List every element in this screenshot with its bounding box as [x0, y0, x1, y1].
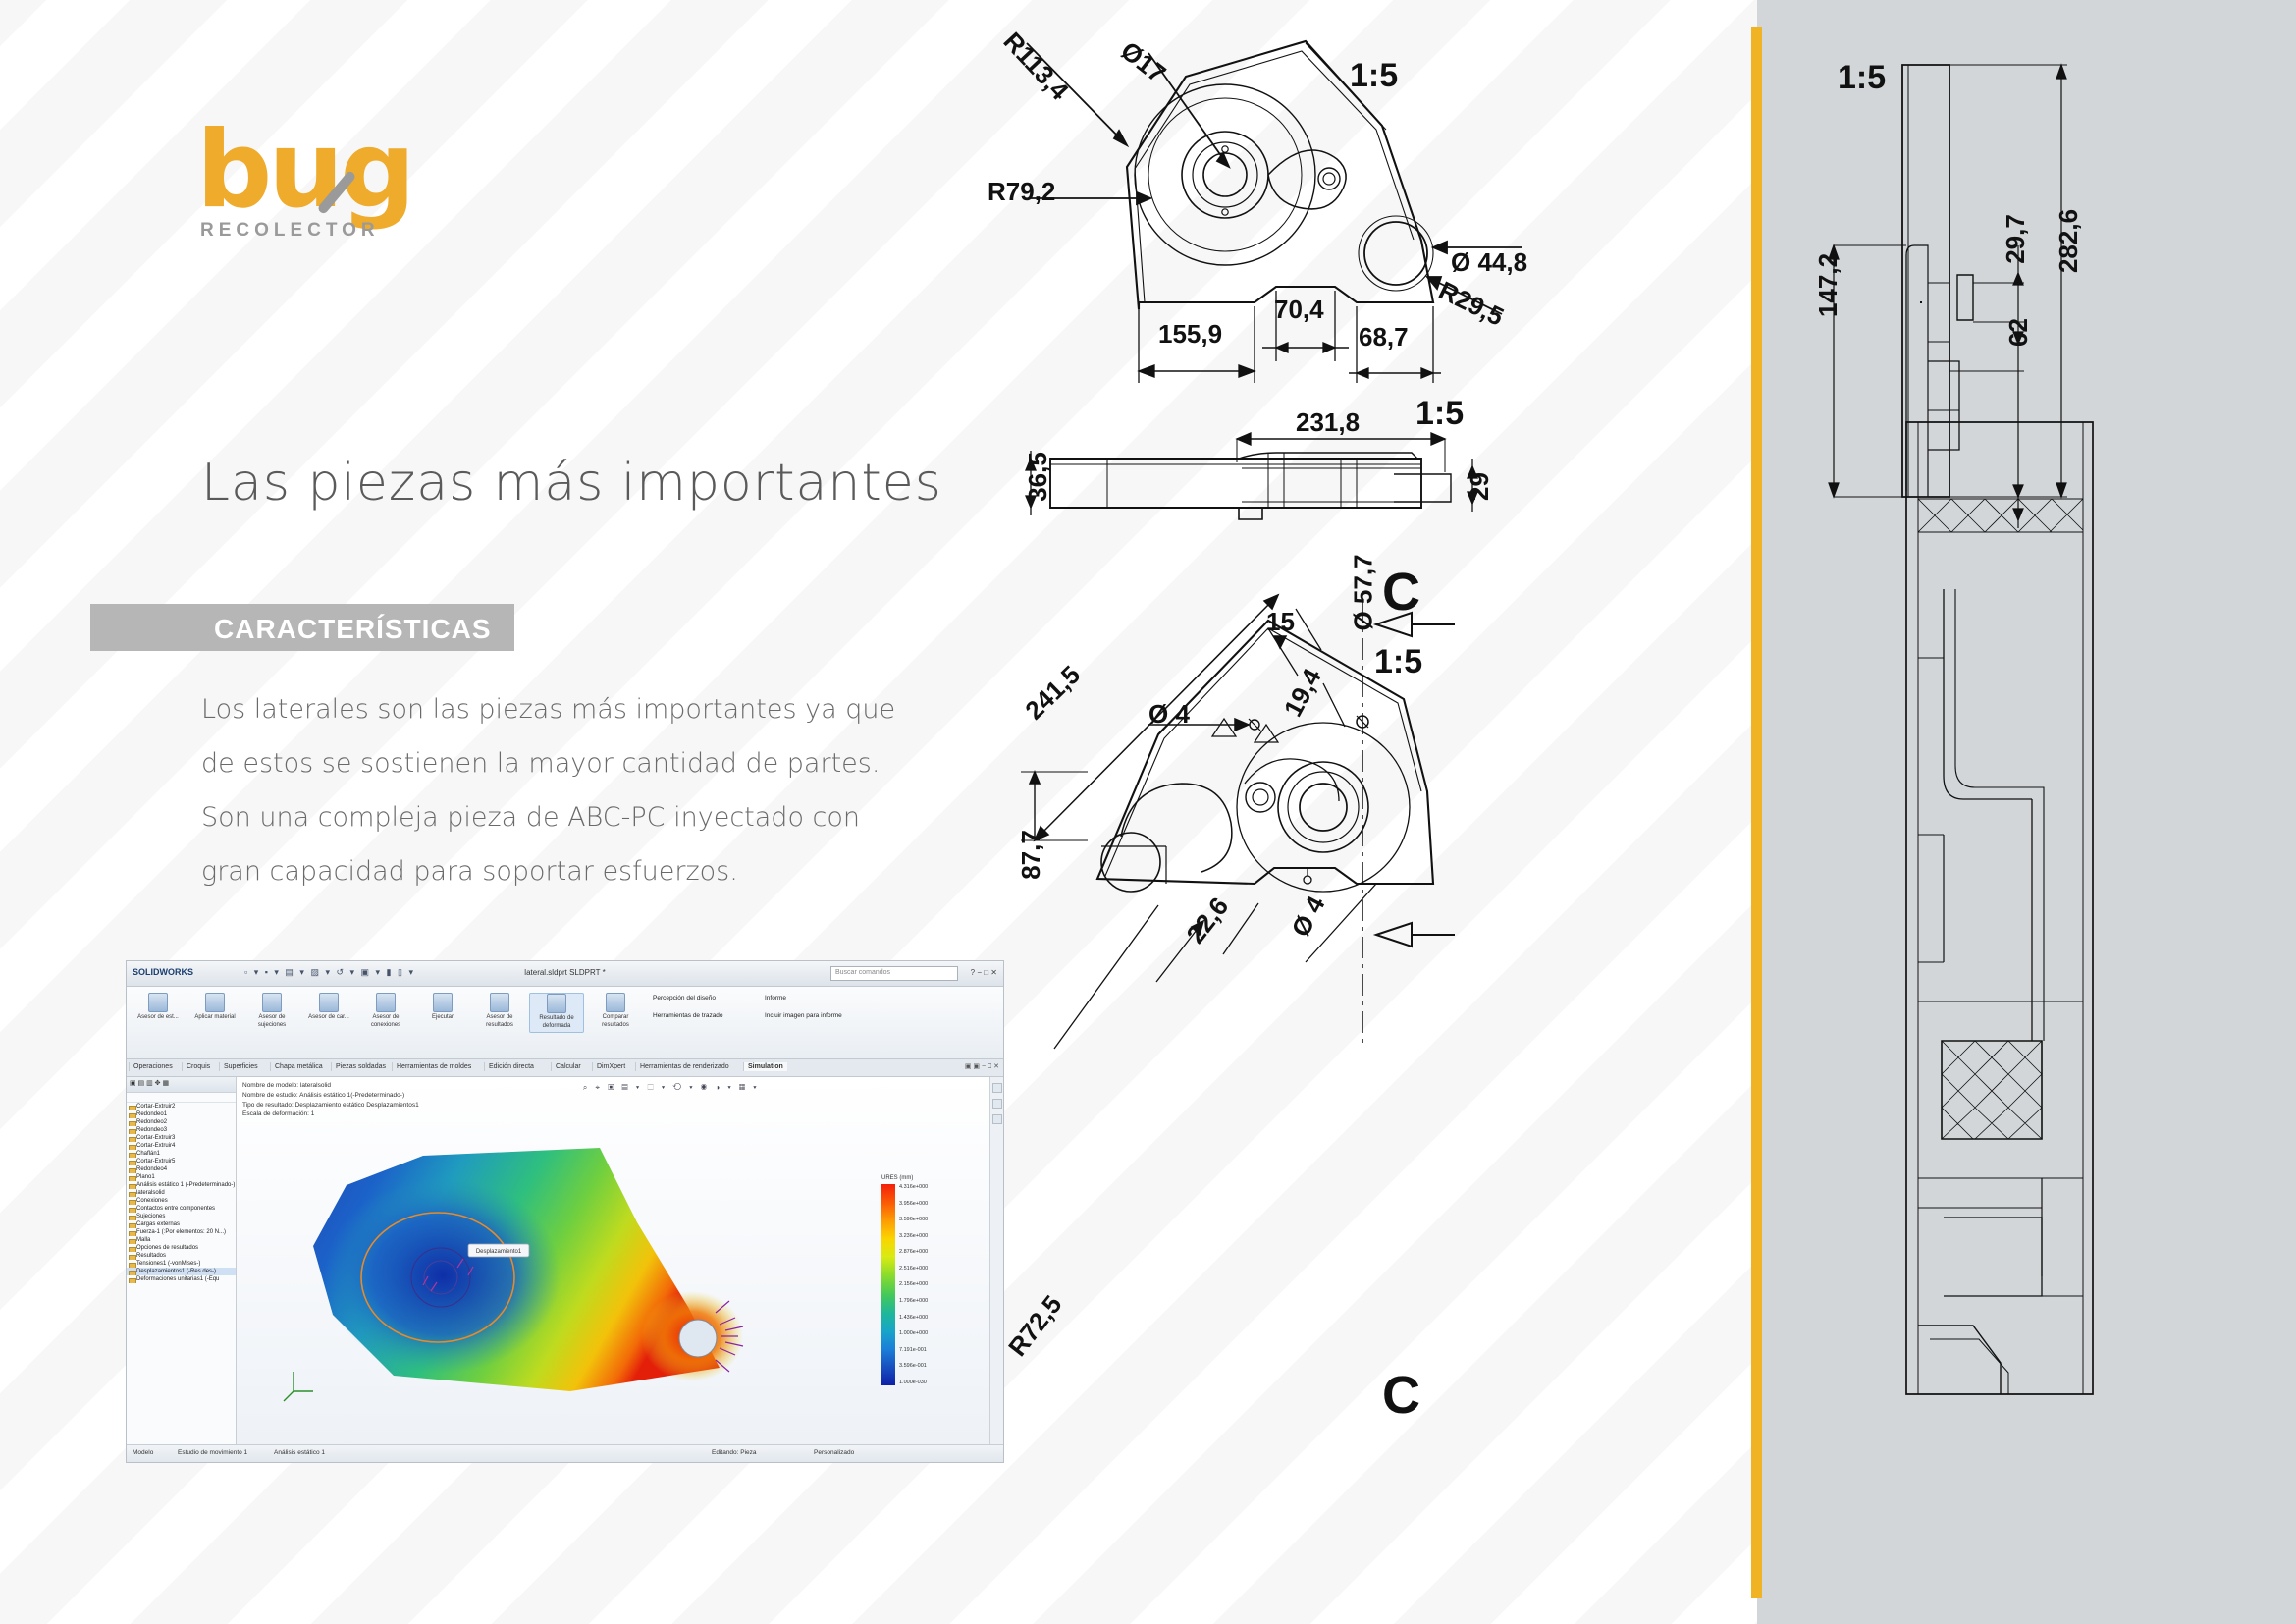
legend-value-4: 2.876e+000: [899, 1249, 928, 1255]
dim-29: 29: [1465, 472, 1495, 501]
legend-value-12: 1.000e-030: [899, 1380, 928, 1385]
apply-material-icon: [205, 993, 225, 1012]
logo-subtitle: RECOLECTOR: [200, 220, 380, 242]
ribbon-button-8[interactable]: Comparar resultados: [588, 993, 643, 1029]
ribbon-button-4[interactable]: Asesor de conexiones: [358, 993, 413, 1029]
window-controls[interactable]: ? − □ ✕: [971, 968, 997, 977]
meta-line-2: Tipo de resultado: Desplazamiento estáti…: [242, 1101, 419, 1110]
tree-item-15[interactable]: Cargas externas: [127, 1220, 236, 1228]
tab-herramientas-renderizado[interactable]: Herramientas de renderizado: [635, 1062, 733, 1071]
right-gray-panel: 282,6 29,7 147,2 62 1:5: [1757, 0, 2296, 1624]
fea-color-legend: URES (mm) 4.316e+000 3.956e+000 3.596e+0…: [881, 1175, 966, 1385]
tab-calcular[interactable]: Calcular: [551, 1062, 585, 1071]
ribbon-text-0[interactable]: Percepción del diseño: [653, 995, 716, 1001]
legend-value-3: 3.236e+000: [899, 1233, 928, 1239]
dim-d4-upper: Ø 4: [1148, 699, 1190, 730]
legend-value-8: 1.436e+000: [899, 1315, 928, 1321]
result-metadata: Nombre de modelo: lateralsolid Nombre de…: [242, 1081, 419, 1119]
ribbon-button-0[interactable]: Asesor de est...: [131, 993, 186, 1022]
legend-color-bar: [881, 1184, 895, 1385]
tab-chapa-metalica[interactable]: Chapa metálica: [270, 1062, 327, 1071]
tree-filter-row[interactable]: [127, 1093, 236, 1103]
legend-value-10: 7.191e-001: [899, 1347, 928, 1353]
dim-r72-5: R72,5: [1002, 1290, 1068, 1363]
dim-36-5: 36,5: [1023, 452, 1053, 502]
dim-87-7: 87,7: [1016, 830, 1046, 880]
deformed-result-icon: [547, 994, 566, 1013]
tree-item-6[interactable]: Chaflán1: [127, 1150, 236, 1158]
compare-results-icon: [606, 993, 625, 1012]
scale-label-view-2: 1:5: [1415, 395, 1464, 433]
meta-line-3: Escala de deformación: 1: [242, 1110, 419, 1119]
tree-item-14[interactable]: Sujeciones: [127, 1213, 236, 1220]
meta-line-0: Nombre de modelo: lateralsolid: [242, 1081, 419, 1091]
ribbon-button-3[interactable]: Asesor de car...: [301, 993, 356, 1022]
dim-d57-7: Ø 57,7: [1349, 554, 1379, 630]
panel-window-controls[interactable]: ▣ ▣ − ⎕ ✕: [965, 1062, 999, 1071]
tree-item-16[interactable]: Fuerza-1 (:Por elementos: 20 N...): [127, 1228, 236, 1236]
legend-value-0: 4.316e+000: [899, 1184, 928, 1190]
tab-operaciones[interactable]: Operaciones: [129, 1062, 177, 1071]
section-mark-c-top: C: [1382, 562, 1420, 623]
right-bar-icon-3[interactable]: [992, 1114, 1002, 1124]
legend-value-5: 2.516e+000: [899, 1266, 928, 1272]
dim-68-7: 68,7: [1359, 322, 1409, 352]
tab-croquis[interactable]: Croquis: [182, 1062, 214, 1071]
brand-logo: bug RECOLECTOR: [196, 118, 452, 236]
body-paragraph: Los laterales son las piezas más importa…: [201, 682, 918, 898]
tree-item-2[interactable]: Redondeo2: [127, 1118, 236, 1126]
search-input[interactable]: Buscar comandos: [830, 966, 958, 981]
legend-value-1: 3.956e+000: [899, 1201, 928, 1207]
tree-item-12[interactable]: Conexiones: [127, 1197, 236, 1205]
results-advisor-icon: [490, 993, 509, 1012]
dim-62: 62: [2003, 318, 2034, 347]
feature-tree-panel[interactable]: ▣ ▤ ▥ ✥ ▦ Cortar-Extruir2 Redondeo1 Redo…: [127, 1077, 237, 1444]
status-tab-analisis[interactable]: Análisis estático 1: [274, 1449, 325, 1456]
tree-item-7[interactable]: Cortar-Extruir5: [127, 1158, 236, 1165]
fixtures-advisor-icon: [262, 993, 282, 1012]
tree-item-1[interactable]: Redondeo1: [127, 1110, 236, 1118]
tree-item-9[interactable]: Plano1: [127, 1173, 236, 1181]
scale-label-view-4: 1:5: [1838, 59, 1886, 97]
section-mark-c-bottom: C: [1382, 1365, 1420, 1426]
dim-147-2: 147,2: [1813, 253, 1843, 317]
dim-231-8: 231,8: [1296, 407, 1360, 438]
fea-result-mesh: Desplazamiento1: [276, 1128, 826, 1423]
ribbon-button-2[interactable]: Asesor de sujeciones: [244, 993, 299, 1029]
ribbon-button-5[interactable]: Ejecutar: [415, 993, 470, 1022]
legend-tick-list: 4.316e+000 3.956e+000 3.596e+000 3.236e+…: [899, 1184, 928, 1385]
ribbon-button-6[interactable]: Asesor de resultados: [472, 993, 527, 1029]
feature-tree-toolbar[interactable]: ▣ ▤ ▥ ✥ ▦: [127, 1077, 236, 1093]
quick-access-toolbar[interactable]: ▫ ▾ ▪ ▾ ▤ ▾ ▨ ▾ ↺ ▾ ▣ ▾ ▮ ▯ ▾: [244, 967, 415, 978]
tree-item-3[interactable]: Redondeo3: [127, 1126, 236, 1134]
status-tab-movimiento[interactable]: Estudio de movimiento 1: [178, 1449, 247, 1456]
status-custom: Personalizado: [814, 1449, 854, 1456]
tab-dimxpert[interactable]: DimXpert: [592, 1062, 629, 1071]
characteristics-badge-label: CARACTERÍSTICAS: [214, 614, 492, 645]
tab-edicion-directa[interactable]: Edición directa: [484, 1062, 538, 1071]
tree-item-20[interactable]: Tensiones1 (-vonMises-): [127, 1260, 236, 1268]
tree-item-22[interactable]: Deformaciones unitarias1 (-Equ: [127, 1275, 236, 1283]
right-bar-icon-1[interactable]: [992, 1083, 1002, 1093]
drawing-views-column: R113,4 Ø17 R79,2 Ø 44,8 R29,5 155,9 70,4…: [1011, 0, 1757, 1624]
ribbon-text-2[interactable]: Herramientas de trazado: [653, 1012, 723, 1019]
solidworks-titlebar: SOLIDWORKS lateral.sldprt SLDPRT * Busca…: [127, 961, 1003, 987]
view-edge-profile-middle: [1011, 417, 1757, 584]
solidworks-screenshot: SOLIDWORKS lateral.sldprt SLDPRT * Busca…: [126, 960, 1004, 1463]
connections-advisor-icon: [376, 993, 396, 1012]
tree-item-11[interactable]: lateralsolid: [127, 1189, 236, 1197]
dim-282-6: 282,6: [2054, 209, 2084, 273]
status-editing: Editando: Pieza: [712, 1449, 757, 1456]
legend-value-7: 1.796e+000: [899, 1298, 928, 1304]
tab-herramientas-moldes[interactable]: Herramientas de moldes: [392, 1062, 475, 1071]
tree-item-17[interactable]: Malla: [127, 1236, 236, 1244]
tab-superficies[interactable]: Superficies: [219, 1062, 262, 1071]
tab-piezas-soldadas[interactable]: Piezas soldadas: [331, 1062, 390, 1071]
right-bar-icon-2[interactable]: [992, 1099, 1002, 1109]
ribbon-text-1[interactable]: Informe: [765, 995, 786, 1001]
ribbon-text-3[interactable]: Incluir imagen para informe: [765, 1012, 842, 1019]
study-advisor-icon: [148, 993, 168, 1012]
ribbon-button-1[interactable]: Aplicar material: [187, 993, 242, 1022]
tree-item-18[interactable]: Opciones de resultados: [127, 1244, 236, 1252]
tree-item-10[interactable]: Análisis estático 1 (-Predeterminado-): [127, 1181, 236, 1189]
solidworks-ribbon: Asesor de est... Aplicar material Asesor…: [127, 987, 1003, 1059]
tree-item-5[interactable]: Cortar-Extruir4: [127, 1142, 236, 1150]
ribbon-button-7-active[interactable]: Resultado de deformada: [529, 993, 584, 1033]
scale-label-view-1: 1:5: [1350, 57, 1398, 95]
run-icon: [433, 993, 453, 1012]
tree-item-21-selected[interactable]: Desplazamientos1 (-Res des-): [127, 1268, 236, 1275]
legend-value-2: 3.596e+000: [899, 1217, 928, 1222]
tree-item-0[interactable]: Cortar-Extruir2: [127, 1103, 236, 1110]
tab-simulation[interactable]: Simulation: [743, 1062, 787, 1071]
page-title: Las piezas más importantes: [201, 454, 942, 513]
dim-r79-2: R79,2: [988, 177, 1055, 207]
tree-tab-icons[interactable]: ▣ ▤ ▥ ✥ ▦: [127, 1077, 172, 1089]
tree-item-4[interactable]: Cortar-Extruir3: [127, 1134, 236, 1142]
legend-title: URES (mm): [881, 1175, 966, 1181]
dim-155-9: 155,9: [1158, 319, 1222, 350]
tree-item-19[interactable]: Resultados: [127, 1252, 236, 1260]
graphics-viewport[interactable]: Nombre de modelo: lateralsolid Nombre de…: [237, 1077, 989, 1444]
dim-d44-8: Ø 44,8: [1451, 247, 1527, 278]
legend-value-11: 3.596e-001: [899, 1363, 928, 1369]
legend-value-9: 1.000e+000: [899, 1330, 928, 1336]
status-tab-modelo[interactable]: Modelo: [133, 1449, 153, 1456]
scale-label-view-3: 1:5: [1374, 643, 1422, 681]
left-content-column: bug RECOLECTOR Las piezas más importante…: [0, 0, 1011, 1624]
legend-value-6: 2.156e+000: [899, 1281, 928, 1287]
view-toolbar[interactable]: ⌕ ⌖ ▣ ▤ ▾ ⬚ ▾ ⟲ ▾ ◉ ◑ ▾ ▦ ▾: [583, 1083, 760, 1093]
tree-item-8[interactable]: Redondeo4: [127, 1165, 236, 1173]
fea-annotation-label: Desplazamiento1: [476, 1249, 522, 1255]
status-bar: Modelo Estudio de movimiento 1 Análisis …: [127, 1444, 1003, 1462]
dim-15: 15: [1266, 607, 1295, 637]
solidworks-tab-strip: Operaciones Croquis Superficies Chapa me…: [127, 1059, 1003, 1077]
tree-item-13[interactable]: Contactos entre componentes: [127, 1205, 236, 1213]
accent-divider-bar: [1751, 27, 1762, 1598]
meta-line-1: Nombre de estudio: Análisis estático 1(-…: [242, 1091, 419, 1101]
view-section-cc: [1885, 412, 2218, 1453]
dim-29-7: 29,7: [2001, 214, 2031, 264]
dim-70-4: 70,4: [1274, 295, 1324, 325]
right-icon-bar[interactable]: [989, 1077, 1003, 1444]
loads-advisor-icon: [319, 993, 339, 1012]
